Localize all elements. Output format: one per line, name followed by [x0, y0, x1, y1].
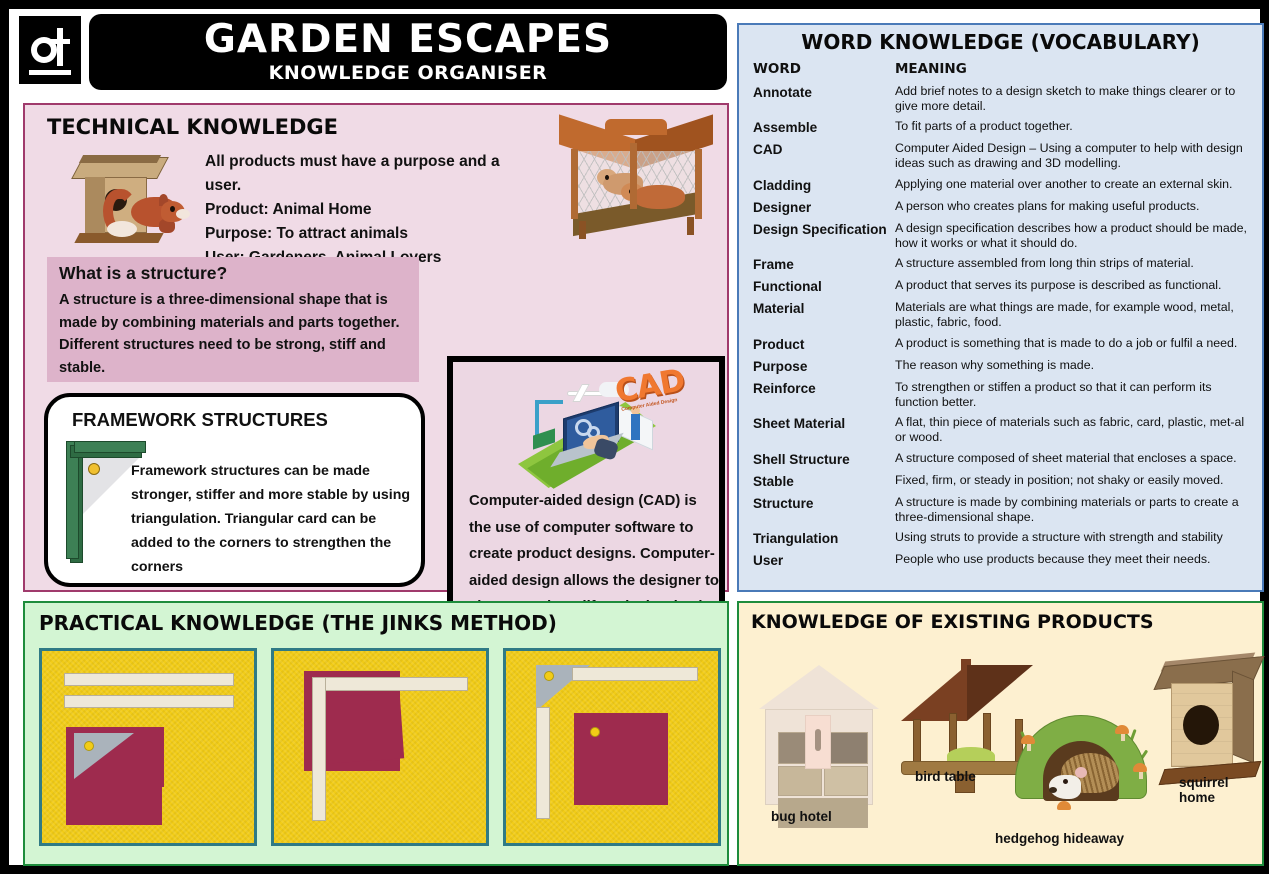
- birdhouse-body-shade-icon: [85, 177, 105, 233]
- mushroom-cap-2-icon: [1115, 725, 1129, 734]
- mushroom-cap-4-icon: [1057, 801, 1071, 810]
- vocabulary-word: Assemble: [753, 119, 895, 136]
- structure-definition-text: A structure is a three-dimensional shape…: [59, 289, 411, 379]
- red-card-flap-1-icon: [142, 727, 164, 787]
- card-hole-3-icon: [544, 671, 554, 681]
- vocabulary-row: AssembleTo fit parts of a product togeth…: [753, 119, 1253, 141]
- logo-letter-t-icon: [57, 28, 63, 66]
- existing-products-panel: KNOWLEDGE OF EXISTING PRODUCTS bug hotel: [737, 601, 1264, 866]
- vocabulary-word: Frame: [753, 256, 895, 273]
- vocabulary-rows: AnnotateAdd brief notes to a design sket…: [753, 84, 1253, 575]
- label-squirrel-home-line1: squirrelhome: [1179, 775, 1229, 805]
- vocabulary-meaning: Computer Aided Design – Using a computer…: [895, 141, 1253, 171]
- vocabulary-word: Stable: [753, 473, 895, 490]
- vocabulary-row: AnnotateAdd brief notes to a design sket…: [753, 84, 1253, 120]
- vocabulary-meaning: A structure assembled from long thin str…: [895, 256, 1253, 271]
- vocabulary-meaning: Using struts to provide a structure with…: [895, 530, 1253, 545]
- vocabulary-meaning: Applying one material over another to cr…: [895, 177, 1253, 192]
- vocabulary-word: Sheet Material: [753, 415, 895, 432]
- vocabulary-meaning: A structure composed of sheet material t…: [895, 451, 1253, 466]
- gazebo-animal-body-2-icon: [633, 185, 685, 209]
- vocabulary-meaning: Materials are what things are made, for …: [895, 300, 1253, 330]
- vocabulary-row: CADComputer Aided Design – Using a compu…: [753, 141, 1253, 177]
- technical-line-3: Purpose: To attract animals: [205, 222, 535, 246]
- vocabulary-row: TriangulationUsing struts to provide a s…: [753, 530, 1253, 552]
- framework-structures-box: FRAMEWORK STRUCTURES Framework structure…: [44, 393, 425, 587]
- bird-table-post-1-icon: [913, 719, 921, 767]
- squirrel-snout-icon: [176, 209, 190, 219]
- vocabulary-word: Reinforce: [753, 380, 895, 397]
- header-banner: GARDEN ESCAPES KNOWLEDGE ORGANISER: [17, 14, 729, 92]
- vocabulary-word: Shell Structure: [753, 451, 895, 468]
- vocabulary-word: Product: [753, 336, 895, 353]
- vocabulary-table: WORD MEANING AnnotateAdd brief notes to …: [753, 59, 1253, 574]
- vocabulary-row: UserPeople who use products because they…: [753, 552, 1253, 574]
- vocabulary-word: Structure: [753, 495, 895, 512]
- cad-crane-arm-icon: [535, 400, 563, 404]
- vocabulary-word: CAD: [753, 141, 895, 158]
- vocabulary-row: ReinforceTo strengthen or stiffen a prod…: [753, 380, 1253, 416]
- vocabulary-word: Material: [753, 300, 895, 317]
- bug-hotel-illustration: [759, 665, 879, 807]
- technical-line-2: Product: Animal Home: [205, 198, 535, 222]
- bug-hotel-slot-icon: [815, 729, 821, 751]
- bug-hotel-cell-4-icon: [824, 766, 868, 796]
- label-bird-table: bird table: [915, 769, 976, 784]
- gazebo-post-1-icon: [571, 149, 578, 219]
- vocabulary-row: Sheet MaterialA flat, thin piece of mate…: [753, 415, 1253, 451]
- card-hole-1-icon: [84, 741, 94, 751]
- hedgehog-eye-icon: [1063, 779, 1068, 784]
- gazebo-post-3-icon: [695, 149, 702, 219]
- vocabulary-row: ProductA product is something that is ma…: [753, 336, 1253, 358]
- vocabulary-col-meaning: MEANING: [895, 59, 1253, 83]
- logo-underline-icon: [29, 70, 71, 75]
- technical-knowledge-panel: TECHNICAL KNOWLEDGE All products must ha…: [23, 103, 729, 592]
- bird-table-roof-left-icon: [901, 665, 967, 721]
- hedgehog-hideaway-illustration: [1009, 709, 1161, 819]
- hedgehog-ear-icon: [1075, 767, 1087, 778]
- vocabulary-meaning: A product is something that is made to d…: [895, 336, 1253, 351]
- vocabulary-row: CladdingApplying one material over anoth…: [753, 177, 1253, 199]
- squirrel-birdhouse-illustration: [73, 149, 193, 249]
- wooden-strip-2-icon: [64, 695, 234, 708]
- logo-background: [24, 21, 76, 79]
- cad-illustration: CAD Computer Aided Design: [511, 370, 681, 486]
- squirrel-eye-icon: [170, 206, 175, 212]
- dt-logo: [19, 16, 81, 84]
- label-bug-hotel: bug hotel: [771, 809, 832, 824]
- birdhouse-roof-edge-icon: [79, 155, 161, 163]
- structure-question-title: What is a structure?: [59, 263, 227, 284]
- gazebo-leg-2-icon: [687, 217, 694, 235]
- framework-corner-diagram: [62, 439, 142, 569]
- practical-knowledge-panel: PRACTICAL KNOWLEDGE (THE JINKS METHOD): [23, 601, 729, 866]
- mushroom-stem-1-icon: [1027, 743, 1031, 751]
- red-card-fan-2-icon: [324, 692, 404, 763]
- vocabulary-meaning: A product that serves its purpose is des…: [895, 278, 1253, 293]
- wooden-strip-vertical-3-icon: [536, 707, 550, 819]
- knowledge-organiser-page: GARDEN ESCAPES KNOWLEDGE ORGANISER TECHN…: [0, 0, 1269, 874]
- title-banner: GARDEN ESCAPES KNOWLEDGE ORGANISER: [89, 14, 727, 90]
- vocabulary-meaning: A flat, thin piece of materials such as …: [895, 415, 1253, 445]
- wooden-strip-horizontal-3-icon: [572, 667, 698, 681]
- gazebo-roof-peak-icon: [605, 119, 667, 135]
- squirrel-home-entrance-icon: [1183, 705, 1219, 745]
- jinks-photo-3: [503, 648, 721, 846]
- vocabulary-meaning: Fixed, firm, or steady in position; not …: [895, 473, 1253, 488]
- squirrel-tail-tip-icon: [107, 221, 137, 237]
- jinks-photo-2: [271, 648, 489, 846]
- mushroom-stem-3-icon: [1139, 771, 1143, 779]
- vocabulary-row: FunctionalA product that serves its purp…: [753, 278, 1253, 300]
- framework-vertical-strut-highlight-icon: [66, 441, 79, 559]
- vocabulary-row: StableFixed, firm, or steady in position…: [753, 473, 1253, 495]
- practical-knowledge-title: PRACTICAL KNOWLEDGE (THE JINKS METHOD): [39, 611, 557, 635]
- bug-hotel-cell-3-icon: [778, 766, 822, 796]
- grey-triangle-card-1-icon: [74, 733, 134, 779]
- technical-knowledge-lines: All products must have a purpose and a u…: [205, 150, 535, 270]
- gazebo-animal-eye-1-icon: [605, 175, 609, 180]
- vocabulary-row: MaterialMaterials are what things are ma…: [753, 300, 1253, 336]
- framework-horizontal-strut-highlight-icon: [74, 441, 146, 453]
- vocabulary-word: Design Specification: [753, 221, 895, 238]
- vocabulary-row: Shell StructureA structure composed of s…: [753, 451, 1253, 473]
- vocabulary-word: Cladding: [753, 177, 895, 194]
- wooden-strip-vertical-2-icon: [312, 677, 326, 821]
- hedgehog-nose-icon: [1049, 787, 1057, 793]
- technical-line-1: All products must have a purpose and a u…: [205, 150, 535, 198]
- vocabulary-word: Triangulation: [753, 530, 895, 547]
- vocabulary-row: StructureA structure is made by combinin…: [753, 495, 1253, 531]
- cad-person-body-icon: [631, 414, 640, 440]
- page-title: GARDEN ESCAPES: [89, 14, 727, 62]
- vocabulary-row: Design SpecificationA design specificati…: [753, 221, 1253, 257]
- mushroom-cap-1-icon: [1021, 735, 1035, 744]
- logo-t-crossbar-icon: [51, 39, 70, 44]
- vocabulary-row: PurposeThe reason why something is made.: [753, 358, 1253, 380]
- vocabulary-header-row: WORD MEANING: [753, 59, 1253, 84]
- red-card-corner-3-icon: [574, 713, 668, 805]
- vocabulary-meaning: The reason why something is made.: [895, 358, 1253, 373]
- vocabulary-word: Designer: [753, 199, 895, 216]
- vocabulary-word: Functional: [753, 278, 895, 295]
- gazebo-post-2-icon: [630, 143, 637, 209]
- vocabulary-meaning: To strengthen or stiffen a product so th…: [895, 380, 1253, 410]
- mushroom-stem-2-icon: [1121, 733, 1125, 741]
- jinks-method-photos: [39, 648, 721, 846]
- framework-fixing-dot-icon: [88, 463, 100, 475]
- jinks-photo-1: [39, 648, 257, 846]
- label-hedgehog-hideaway: hedgehog hideaway: [995, 831, 1124, 846]
- framework-structures-title: FRAMEWORK STRUCTURES: [72, 409, 328, 431]
- vocabulary-meaning: To fit parts of a product together.: [895, 119, 1253, 134]
- squirrel-home-side-icon: [1232, 671, 1254, 764]
- technical-knowledge-heading: TECHNICAL KNOWLEDGE: [47, 115, 338, 139]
- vocabulary-meaning: A person who creates plans for making us…: [895, 199, 1253, 214]
- vocabulary-row: DesignerA person who creates plans for m…: [753, 199, 1253, 221]
- word-knowledge-panel: WORD KNOWLEDGE (VOCABULARY) WORD MEANING…: [737, 23, 1264, 592]
- vocabulary-row: FrameA structure assembled from long thi…: [753, 256, 1253, 278]
- wooden-strip-1-icon: [64, 673, 234, 686]
- vocabulary-word: Purpose: [753, 358, 895, 375]
- word-knowledge-title: WORD KNOWLEDGE (VOCABULARY): [739, 25, 1262, 54]
- vocabulary-word: Annotate: [753, 84, 895, 101]
- vocabulary-meaning: Add brief notes to a design sketch to ma…: [895, 84, 1253, 114]
- gazebo-leg-1-icon: [579, 221, 586, 239]
- framework-structures-text: Framework structures can be made stronge…: [131, 459, 411, 579]
- page-subtitle: KNOWLEDGE ORGANISER: [89, 62, 727, 85]
- wooden-strip-horizontal-2-icon: [312, 677, 468, 691]
- what-is-a-structure-block: What is a structure? A structure is a th…: [47, 257, 419, 382]
- bug-hotel-roof-icon: [759, 665, 879, 709]
- mushroom-cap-3-icon: [1133, 763, 1147, 772]
- vocabulary-meaning: People who use products because they mee…: [895, 552, 1253, 567]
- card-hole-3b-icon: [590, 727, 600, 737]
- vocabulary-meaning: A structure is made by combining materia…: [895, 495, 1253, 525]
- animal-shelter-gazebo-illustration: [545, 113, 725, 248]
- vocabulary-col-word: WORD: [753, 59, 895, 84]
- vocabulary-word: User: [753, 552, 895, 569]
- vocabulary-meaning: A design specification describes how a p…: [895, 221, 1253, 251]
- cad-aeroplane-icon: [563, 382, 605, 404]
- existing-products-title: KNOWLEDGE OF EXISTING PRODUCTS: [751, 611, 1154, 633]
